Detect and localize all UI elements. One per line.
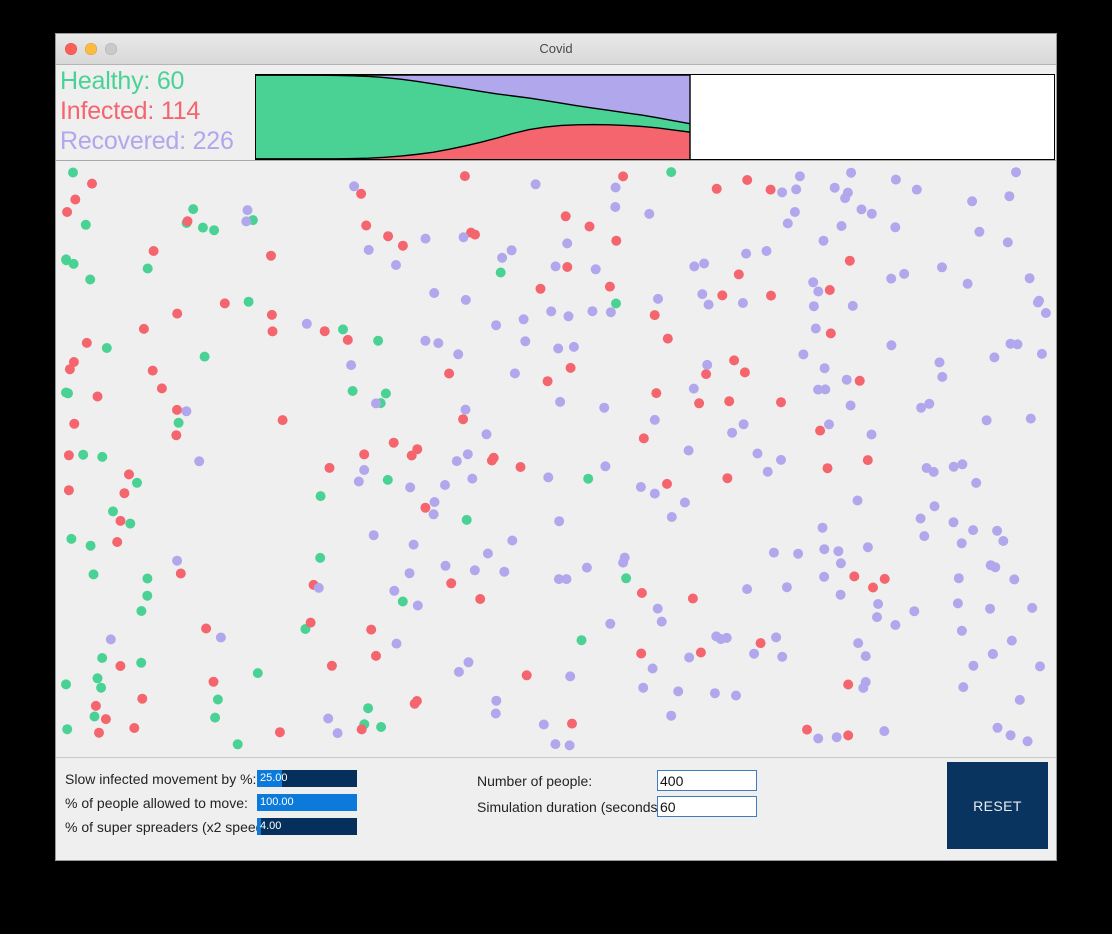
person-dot (867, 430, 877, 440)
person-dot (520, 336, 530, 346)
person-dot (867, 209, 877, 219)
person-dot (891, 175, 901, 185)
person-dot (636, 649, 646, 659)
simulation-duration-input[interactable] (657, 796, 757, 817)
person-dot (849, 571, 859, 581)
person-dot (611, 183, 621, 193)
person-dot (200, 352, 210, 362)
person-dot (667, 512, 677, 522)
person-dot (369, 530, 379, 540)
person-dot (348, 386, 358, 396)
person-dot (819, 236, 829, 246)
person-dot (136, 658, 146, 668)
person-dot (139, 324, 149, 334)
person-dot (497, 253, 507, 263)
person-dot (554, 574, 564, 584)
person-dot (666, 711, 676, 721)
person-dot (405, 482, 415, 492)
person-dot (823, 463, 833, 473)
slider-value-super-spreaders: 4.00 (260, 818, 281, 835)
person-dot (555, 397, 565, 407)
person-dot (662, 479, 672, 489)
person-dot (1004, 191, 1014, 201)
person-dot (381, 389, 391, 399)
person-dot (132, 478, 142, 488)
person-dot (782, 582, 792, 592)
person-dot (62, 207, 72, 217)
person-dot (769, 548, 779, 558)
particle-canvas[interactable] (56, 161, 1056, 757)
slider-super-spreaders[interactable]: 4.00 (257, 818, 357, 835)
person-dot (176, 569, 186, 579)
person-dot (606, 307, 616, 317)
person-dot (710, 688, 720, 698)
person-dot (499, 567, 509, 577)
person-dot (125, 519, 135, 529)
person-dot (454, 667, 464, 677)
person-dot (753, 449, 763, 459)
person-dot (119, 488, 129, 498)
person-dot (771, 632, 781, 642)
person-dot (543, 376, 553, 386)
person-dot (819, 572, 829, 582)
person-dot (216, 633, 226, 643)
person-dot (446, 578, 456, 588)
field-label-number-of-people: Number of people: (477, 773, 657, 789)
person-dot (463, 449, 473, 459)
person-dot (762, 246, 772, 256)
person-dot (429, 288, 439, 298)
slider-row-allowed-to-move: % of people allowed to move: 100.00 (65, 793, 357, 812)
person-dot (689, 261, 699, 271)
person-dot (637, 588, 647, 598)
person-dot (306, 618, 316, 628)
person-dot (97, 452, 107, 462)
person-dot (798, 349, 808, 359)
person-dot (482, 429, 492, 439)
person-dot (429, 509, 439, 519)
person-dot (830, 183, 840, 193)
person-dot (143, 264, 153, 274)
person-dot (275, 727, 285, 737)
person-dot (611, 299, 621, 309)
person-dot (924, 399, 934, 409)
person-dot (813, 287, 823, 297)
person-dot (409, 540, 419, 550)
person-dot (1009, 574, 1019, 584)
person-dot (648, 664, 658, 674)
person-dot (566, 363, 576, 373)
person-dot (937, 372, 947, 382)
person-dot (470, 230, 480, 240)
person-dot (974, 227, 984, 237)
person-dot (666, 167, 676, 177)
person-dot (1027, 603, 1037, 613)
person-dot (553, 344, 563, 354)
person-dot (531, 179, 541, 189)
screen: Covid Healthy: 60 Infected: 114 Recovere… (0, 0, 1112, 934)
person-dot (410, 699, 420, 709)
person-dot (802, 725, 812, 735)
person-dot (464, 657, 474, 667)
person-dot (727, 428, 737, 438)
person-dot (663, 334, 673, 344)
person-dot (108, 506, 118, 516)
slider-label-super-spreaders: % of super spreaders (x2 speed): (65, 819, 257, 835)
person-dot (890, 620, 900, 630)
person-dot (861, 651, 871, 661)
person-dot (475, 594, 485, 604)
person-dot (383, 231, 393, 241)
person-dot (90, 712, 100, 722)
person-dot (220, 298, 230, 308)
person-dot (85, 275, 95, 285)
person-dot (210, 713, 220, 723)
person-dot (820, 363, 830, 373)
person-dot (756, 638, 766, 648)
person-dot (697, 289, 707, 299)
person-dot (364, 245, 374, 255)
person-dot (711, 631, 721, 641)
person-dot (899, 269, 909, 279)
person-dot (793, 549, 803, 559)
slider-row-slow-infected: Slow infected movement by %: 25.00 (65, 769, 357, 788)
person-dot (430, 497, 440, 507)
person-dot (605, 282, 615, 292)
person-dot (843, 730, 853, 740)
person-dot (421, 234, 431, 244)
person-dot (467, 474, 477, 484)
person-dot (516, 462, 526, 472)
person-dot (266, 251, 276, 261)
person-dot (968, 661, 978, 671)
slider-label-allowed-to-move: % of people allowed to move: (65, 795, 257, 811)
person-dot (491, 320, 501, 330)
person-dot (971, 478, 981, 488)
person-dot (356, 189, 366, 199)
person-dot (985, 604, 995, 614)
person-dot (241, 216, 251, 226)
person-dot (749, 649, 759, 659)
person-dot (777, 652, 787, 662)
person-dot (702, 360, 712, 370)
simulation-area[interactable] (56, 160, 1056, 758)
person-dot (66, 534, 76, 544)
person-dot (731, 691, 741, 701)
person-dot (440, 480, 450, 490)
person-dot (701, 369, 711, 379)
person-dot (510, 368, 520, 378)
person-dot (198, 223, 208, 233)
person-dot (81, 220, 91, 230)
person-dot (452, 456, 462, 466)
person-dot (327, 661, 337, 671)
person-dot (562, 238, 572, 248)
person-dot (605, 619, 615, 629)
person-dot (825, 285, 835, 295)
person-dot (459, 232, 469, 242)
person-dot (354, 477, 364, 487)
person-dot (935, 357, 945, 367)
person-dot (582, 563, 592, 573)
person-dot (684, 446, 694, 456)
number-of-people-input[interactable] (657, 770, 757, 791)
person-dot (233, 739, 243, 749)
person-dot (201, 624, 211, 634)
person-dot (986, 560, 996, 570)
person-dot (657, 617, 667, 627)
person-dot (174, 418, 184, 428)
person-dot (638, 683, 648, 693)
person-dot (89, 569, 99, 579)
person-dot (790, 207, 800, 217)
person-dot (886, 340, 896, 350)
person-dot (363, 703, 373, 713)
person-dot (843, 680, 853, 690)
person-dot (171, 430, 181, 440)
person-dot (376, 722, 386, 732)
person-dot (1006, 730, 1016, 740)
person-dot (1013, 339, 1023, 349)
person-dot (819, 544, 829, 554)
person-dot (420, 503, 430, 513)
person-dot (546, 306, 556, 316)
person-dot (253, 668, 263, 678)
person-dot (320, 326, 330, 336)
person-dot (1023, 736, 1033, 746)
person-dot (470, 565, 480, 575)
person-dot (93, 392, 103, 402)
person-dot (209, 225, 219, 235)
person-dot (949, 462, 959, 472)
person-dot (94, 728, 104, 738)
person-dot (1035, 661, 1045, 671)
person-dot (349, 181, 359, 191)
person-dot (729, 355, 739, 365)
person-dot (536, 284, 546, 294)
person-dot (953, 598, 963, 608)
person-dot (766, 291, 776, 301)
person-dot (149, 246, 159, 256)
title-bar: Covid (56, 34, 1056, 65)
person-dot (583, 474, 593, 484)
person-dot (371, 398, 381, 408)
person-dot (405, 568, 415, 578)
person-dot (1041, 308, 1051, 318)
person-dot (1003, 237, 1013, 247)
person-dot (93, 673, 103, 683)
person-dot (433, 338, 443, 348)
person-dot (611, 236, 621, 246)
person-dot (183, 216, 193, 226)
person-dot (954, 573, 964, 583)
person-dot (64, 450, 74, 460)
person-dot (1015, 695, 1025, 705)
person-dot (811, 324, 821, 334)
person-dot (694, 398, 704, 408)
person-dot (371, 651, 381, 661)
person-dot (96, 683, 106, 693)
person-dot (97, 653, 107, 663)
person-dot (858, 683, 868, 693)
person-dot (846, 401, 856, 411)
person-dot (314, 583, 324, 593)
person-dot (359, 449, 369, 459)
person-dot (398, 597, 408, 607)
person-dot (833, 546, 843, 556)
field-row-number-of-people: Number of people: (477, 769, 757, 792)
person-dot (813, 385, 823, 395)
person-dot (734, 269, 744, 279)
person-dot (912, 185, 922, 195)
person-dot (809, 301, 819, 311)
slider-group: Slow infected movement by %: 25.00 % of … (65, 769, 357, 841)
person-dot (461, 295, 471, 305)
person-dot (124, 469, 134, 479)
person-dot (650, 489, 660, 499)
person-dot (824, 419, 834, 429)
person-dot (722, 473, 732, 483)
person-dot (766, 185, 776, 195)
person-dot (539, 720, 549, 730)
person-dot (890, 222, 900, 232)
person-dot (650, 310, 660, 320)
person-dot (879, 726, 889, 736)
person-dot (323, 714, 333, 724)
person-dot (567, 719, 577, 729)
person-dot (357, 724, 367, 734)
person-dot (916, 514, 926, 524)
person-dot (832, 732, 842, 742)
person-dot (653, 294, 663, 304)
person-dot (359, 465, 369, 475)
person-dot (62, 724, 72, 734)
person-dot (243, 205, 253, 215)
field-group: Number of people: Simulation duration (s… (477, 769, 757, 821)
person-dot (930, 501, 940, 511)
person-dot (868, 583, 878, 593)
field-label-simulation-duration: Simulation duration (seconds): (477, 799, 657, 815)
person-dot (922, 463, 932, 473)
person-dot (618, 171, 628, 181)
reset-button[interactable]: RESET (947, 762, 1048, 849)
person-dot (740, 367, 750, 377)
person-dot (998, 536, 1008, 546)
slider-slow-infected[interactable]: 25.00 (257, 770, 357, 787)
person-dot (69, 357, 79, 367)
slider-value-allowed-to-move: 100.00 (260, 794, 294, 811)
person-dot (565, 740, 575, 750)
person-dot (86, 541, 96, 551)
person-dot (68, 168, 78, 178)
person-dot (653, 604, 663, 614)
person-dot (407, 451, 417, 461)
person-dot (389, 586, 399, 596)
person-dot (957, 626, 967, 636)
person-dot (522, 670, 532, 680)
person-dot (346, 360, 356, 370)
person-dot (373, 336, 383, 346)
person-dot (992, 526, 1002, 536)
person-dot (87, 179, 97, 189)
person-dot (137, 694, 147, 704)
field-row-simulation-duration: Simulation duration (seconds): (477, 795, 757, 818)
person-dot (181, 406, 191, 416)
person-dot (519, 314, 529, 324)
person-dot (684, 653, 694, 663)
stats-panel: Healthy: 60 Infected: 114 Recovered: 226 (60, 65, 256, 156)
person-dot (853, 638, 863, 648)
person-dot (82, 338, 92, 348)
person-dot (741, 249, 751, 259)
person-dot (880, 574, 890, 584)
person-dot (963, 279, 973, 289)
person-dot (564, 311, 574, 321)
person-dot (325, 463, 335, 473)
person-dot (491, 709, 501, 719)
person-dot (244, 297, 254, 307)
person-dot (213, 695, 223, 705)
recovered-count-label: Recovered: 226 (60, 126, 256, 156)
person-dot (70, 195, 80, 205)
person-dot (837, 221, 847, 231)
slider-value-slow-infected: 25.00 (260, 770, 288, 787)
person-dot (610, 202, 620, 212)
person-dot (993, 723, 1003, 733)
person-dot (795, 171, 805, 181)
slider-row-super-spreaders: % of super spreaders (x2 speed): 4.00 (65, 817, 357, 836)
person-dot (704, 300, 714, 310)
person-dot (61, 679, 71, 689)
person-dot (392, 639, 402, 649)
person-dot (1025, 273, 1035, 283)
person-dot (441, 561, 451, 571)
person-dot (813, 734, 823, 744)
person-dot (491, 696, 501, 706)
person-dot (333, 728, 343, 738)
person-dot (842, 375, 852, 385)
person-dot (776, 455, 786, 465)
person-dot (420, 336, 430, 346)
person-dot (599, 403, 609, 413)
person-dot (1026, 414, 1036, 424)
window-title: Covid (56, 34, 1056, 64)
slider-label-slow-infected: Slow infected movement by %: (65, 771, 257, 787)
person-dot (919, 531, 929, 541)
person-dot (569, 342, 579, 352)
person-dot (873, 599, 883, 609)
person-dot (194, 456, 204, 466)
person-dot (776, 397, 786, 407)
person-dot (957, 459, 967, 469)
slider-allowed-to-move[interactable]: 100.00 (257, 794, 357, 811)
person-dot (689, 384, 699, 394)
person-dot (826, 328, 836, 338)
app-window: Covid Healthy: 60 Infected: 114 Recovere… (56, 34, 1056, 860)
person-dot (673, 686, 683, 696)
person-dot (724, 396, 734, 406)
person-dot (483, 549, 493, 559)
person-dot (551, 261, 561, 271)
person-dot (853, 496, 863, 506)
person-dot (209, 677, 219, 687)
person-dot (680, 498, 690, 508)
person-dot (587, 306, 597, 316)
person-dot (712, 184, 722, 194)
person-dot (172, 309, 182, 319)
person-dot (620, 553, 630, 563)
person-dot (949, 517, 959, 527)
